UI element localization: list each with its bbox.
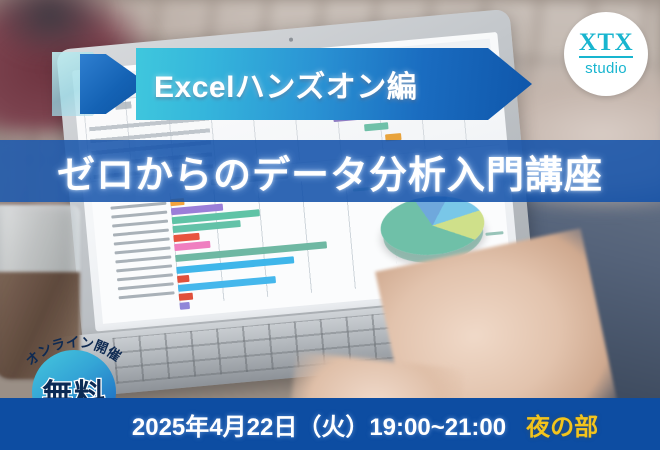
bar-label	[115, 255, 171, 263]
event-session: 夜の部	[526, 407, 598, 442]
event-datetime-inner: 2025年4月22日（火）19:00~21:00 夜の部	[62, 407, 598, 442]
bar-label	[119, 291, 175, 299]
bar-segment	[177, 275, 190, 283]
brand-logo: XTX studio	[564, 12, 648, 96]
brand-logo-main: XTX	[579, 30, 633, 58]
pie-label	[485, 231, 503, 236]
bar-label	[115, 246, 171, 254]
bar-label	[118, 282, 174, 290]
bar-label	[110, 202, 166, 210]
brand-logo-sub: studio	[585, 61, 627, 78]
bar-label	[116, 264, 172, 272]
bar-segment	[179, 302, 190, 310]
subtitle-ribbon: Excelハンズオン編	[52, 48, 532, 120]
bar-label	[113, 229, 169, 237]
title-band: ゼロからのデータ分析入門講座	[0, 140, 660, 202]
seminar-poster: Excelハンズオン編 ゼロからのデータ分析入門講座 XTX studio オン…	[0, 0, 660, 450]
ribbon-label: Excelハンズオン編	[154, 62, 417, 106]
bar-label	[111, 211, 167, 219]
bar-segment	[179, 293, 194, 301]
bar-label	[112, 220, 168, 228]
bar-label	[114, 237, 170, 245]
page-title: ゼロからのデータ分析入門講座	[57, 144, 603, 199]
event-date: 2025年4月22日（火）19:00~21:00	[132, 407, 506, 442]
bar-label	[117, 273, 173, 281]
event-datetime-bar: 2025年4月22日（火）19:00~21:00 夜の部	[0, 398, 660, 450]
ribbon-body: Excelハンズオン編	[136, 48, 532, 120]
